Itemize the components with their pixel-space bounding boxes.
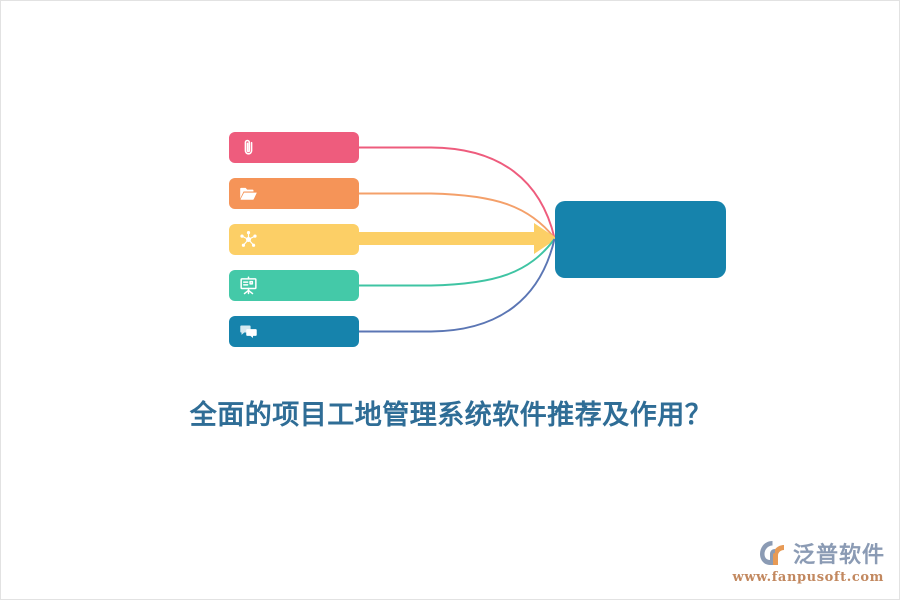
connector-curve-2 xyxy=(359,194,555,239)
image-canvas: 全面的项目工地管理系统软件推荐及作用？ 泛普软件 www.fanpusoft.c… xyxy=(0,0,900,600)
connector-lines xyxy=(1,1,900,600)
page-title: 全面的项目工地管理系统软件推荐及作用？ xyxy=(1,393,900,432)
fanpu-logo-icon xyxy=(758,539,788,567)
paperclip-icon xyxy=(238,137,259,158)
diagram-item-folder[interactable] xyxy=(229,178,359,209)
diagram-item-chat[interactable] xyxy=(229,316,359,347)
presentation-board-icon xyxy=(238,275,259,296)
central-hub[interactable] xyxy=(555,201,726,278)
converging-arrows-diagram xyxy=(1,1,900,600)
diagram-item-paperclip[interactable] xyxy=(229,132,359,163)
watermark-brand-name: 泛普软件 xyxy=(793,537,885,569)
connector-arrow-3 xyxy=(358,223,557,254)
diagram-item-network[interactable] xyxy=(229,224,359,255)
watermark-brand-row: 泛普软件 xyxy=(758,537,885,569)
connector-curve-1 xyxy=(359,148,555,239)
watermark-url: www.fanpusoft.com xyxy=(733,570,884,585)
open-folder-icon xyxy=(238,183,259,204)
network-hub-icon xyxy=(238,229,259,250)
chat-bubbles-icon xyxy=(238,321,259,342)
connector-curve-4 xyxy=(359,239,555,286)
watermark: 泛普软件 www.fanpusoft.com xyxy=(733,537,885,585)
connector-curve-5 xyxy=(359,239,555,332)
diagram-item-presentation[interactable] xyxy=(229,270,359,301)
